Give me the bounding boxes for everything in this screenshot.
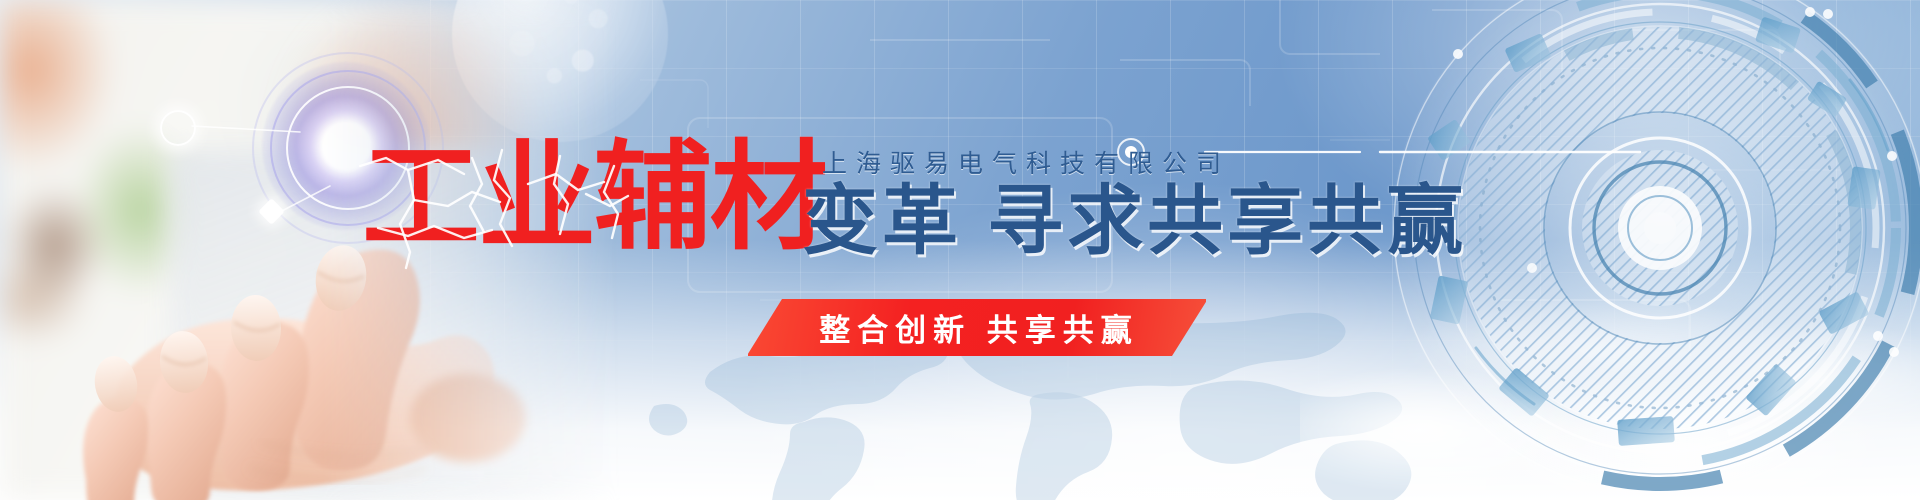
page-title-red: 工业辅材: [362, 138, 826, 256]
ribbon-text: 整合创新 共享共赢: [748, 299, 1206, 356]
company-name: 上海驱易电气科技有限公司: [822, 144, 1230, 180]
slogan-ribbon: 整合创新 共享共赢: [748, 299, 1206, 356]
headline-slogan: 变革 寻求共享共赢: [802, 182, 1467, 263]
hero-banner: 工业辅材 上海驱易电气科技有限公司 变革 寻求共享共赢 整合创新: [0, 0, 1920, 500]
network-node-circle: [160, 110, 196, 146]
title-red-text: 工业辅材: [362, 128, 826, 266]
